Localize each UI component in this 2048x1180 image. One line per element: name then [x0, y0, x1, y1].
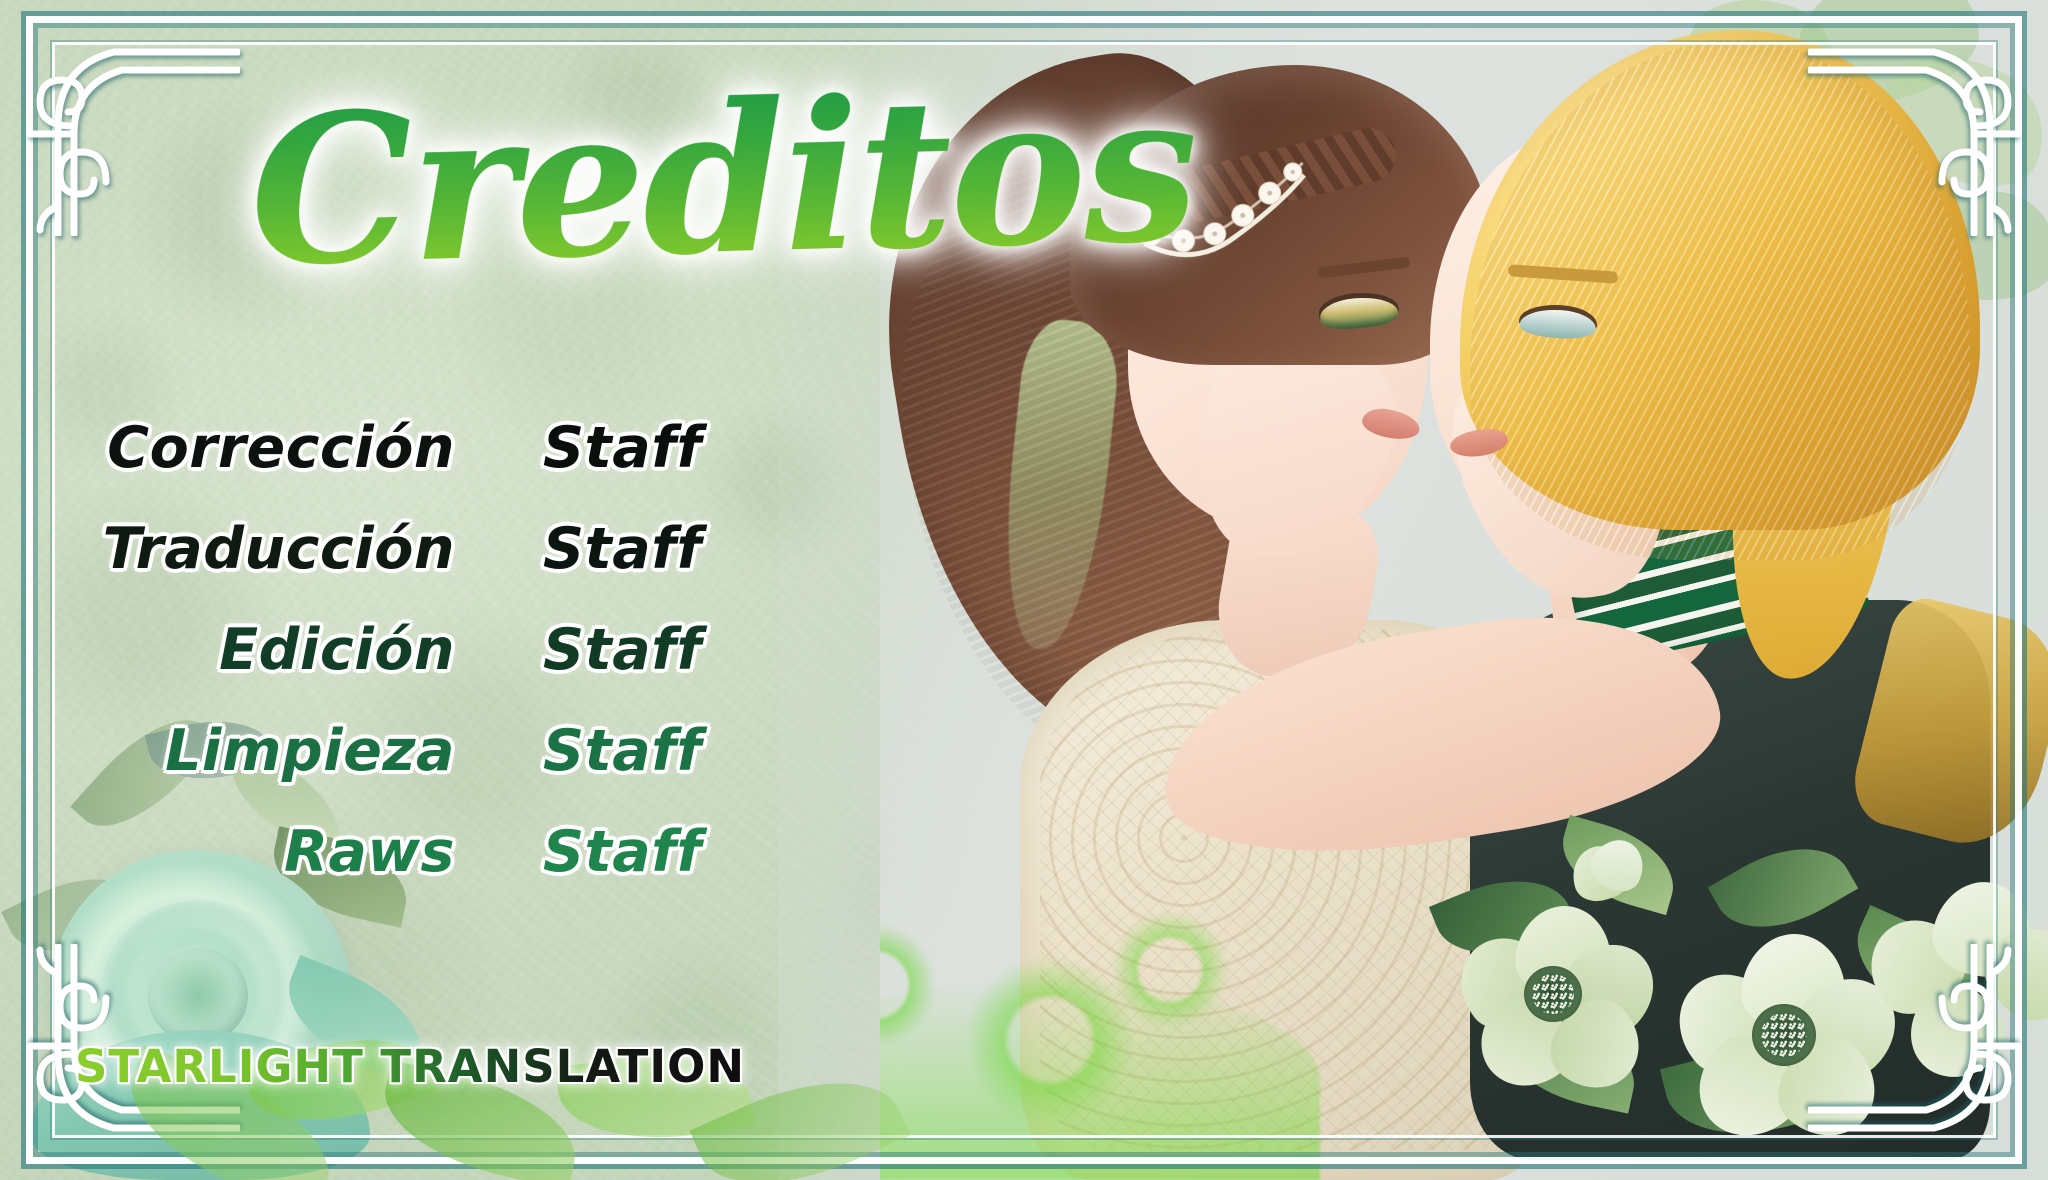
credit-value: Staff — [543, 415, 702, 481]
credit-row: Limpieza Staff — [0, 718, 880, 819]
credits-page: Creditos Corrección Staff Traducción Sta… — [0, 0, 2048, 1180]
credits-content: Creditos Corrección Staff Traducción Sta… — [0, 0, 880, 1180]
credit-role: Raws — [0, 819, 455, 885]
credits-list: Corrección Staff Traducción Staff Edició… — [0, 415, 880, 920]
credit-row: Raws Staff — [0, 819, 880, 920]
credit-role: Edición — [0, 617, 455, 683]
credit-role: Traducción — [0, 516, 455, 582]
credit-value: Staff — [543, 617, 702, 683]
credit-role: Corrección — [0, 415, 455, 481]
flower-cluster-bottom-right — [1418, 820, 2038, 1180]
credit-row: Edición Staff — [0, 617, 880, 718]
credit-value: Staff — [543, 819, 702, 885]
studio-name: STARLIGHT TRANSLATION — [75, 1040, 745, 1093]
credit-row: Corrección Staff — [0, 415, 880, 516]
credit-value: Staff — [543, 516, 702, 582]
page-title: Creditos — [247, 66, 1198, 296]
credit-row: Traducción Staff — [0, 516, 880, 617]
credit-role: Limpieza — [0, 718, 455, 784]
credit-value: Staff — [543, 718, 702, 784]
